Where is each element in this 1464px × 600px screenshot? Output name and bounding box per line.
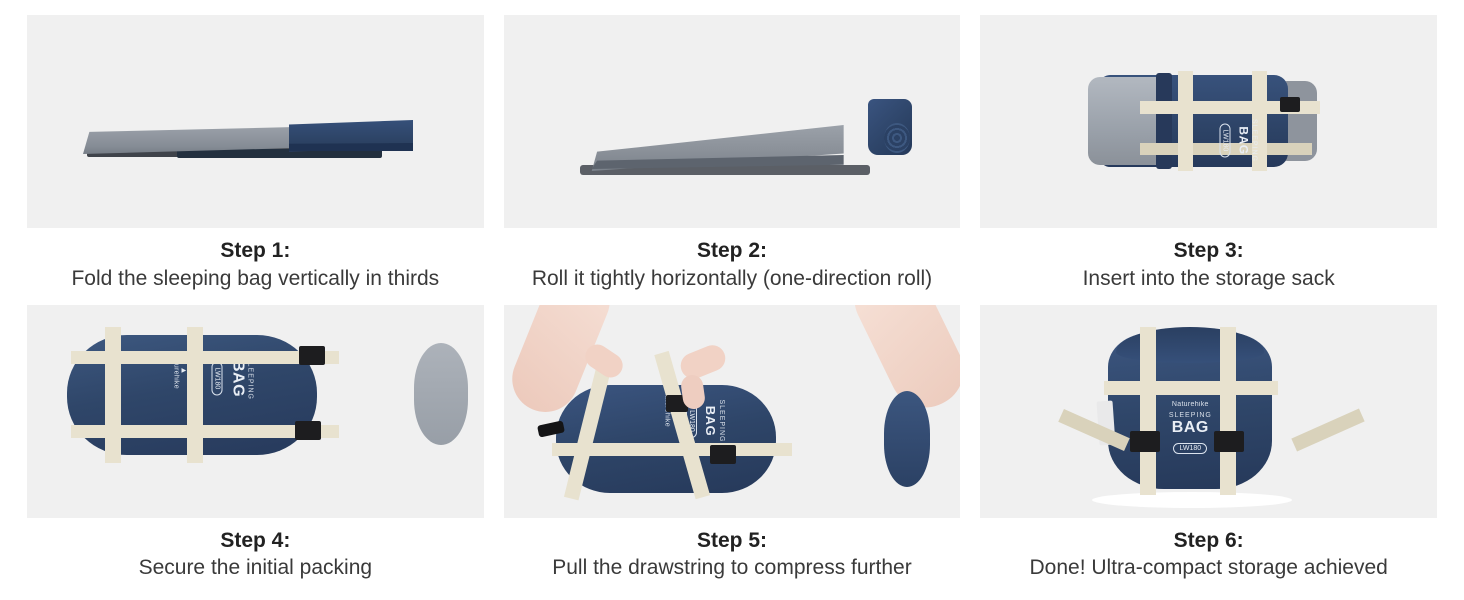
- brand-name-text: Naturehike: [173, 335, 180, 405]
- surface-highlight: [1092, 492, 1292, 508]
- label-model-badge: LW180: [1173, 443, 1207, 454]
- step-1-image: [27, 15, 484, 228]
- step-6-title: Step 6:: [980, 527, 1437, 555]
- label-bag-text: BAG: [1237, 113, 1251, 169]
- step-5-title: Step 5:: [504, 527, 961, 555]
- step-3-description: Insert into the storage sack: [980, 265, 1437, 292]
- step-card-2: Step 2: Roll it tightly horizontally (on…: [504, 15, 961, 303]
- step-card-1: Step 1: Fold the sleeping bag vertically…: [27, 15, 484, 303]
- strap-horizontal: [1104, 381, 1278, 395]
- strap-vertical-right: [187, 327, 203, 463]
- label-sleeping-text: SLEEPING: [1148, 412, 1232, 419]
- step-2-image: [504, 15, 961, 228]
- step-3-caption: Step 3: Insert into the storage sack: [980, 228, 1437, 292]
- step-1-title: Step 1:: [27, 237, 484, 265]
- strap-loose-end-right: [1291, 408, 1364, 451]
- step-4-title: Step 4:: [27, 527, 484, 555]
- step-card-6: Naturehike SLEEPING BAG LW180 Step 6: Do…: [980, 305, 1437, 593]
- sack-far-side: [884, 391, 930, 487]
- step-3-image: SLEEPING BAG LW180: [980, 15, 1437, 228]
- buckle-left: [1130, 431, 1160, 452]
- step-2-description: Roll it tightly horizontally (one-direct…: [504, 265, 961, 292]
- steps-grid: Step 1: Fold the sleeping bag vertically…: [0, 0, 1464, 600]
- sack-gray-end: [414, 343, 468, 445]
- product-label-step3: SLEEPING BAG LW180: [1216, 107, 1260, 157]
- buckle-bottom-right: [295, 421, 321, 440]
- mat-navy-edge: [289, 143, 413, 151]
- step-card-3: SLEEPING BAG LW180 Step 3: Insert into t…: [980, 15, 1437, 303]
- step-card-4: ▲ Naturehike SLEEPING BAG LW180: [27, 305, 484, 593]
- strap-buckle: [1280, 97, 1300, 112]
- step-1-caption: Step 1: Fold the sleeping bag vertically…: [27, 228, 484, 292]
- step-4-image: ▲ Naturehike SLEEPING BAG LW180: [27, 305, 484, 518]
- label-model-badge: LW180: [1220, 124, 1231, 158]
- right-hand-fingers: [676, 341, 728, 382]
- step-4-description: Secure the initial packing: [27, 554, 484, 581]
- buckle-top-right: [299, 346, 325, 365]
- step-5-description: Pull the drawstring to compress further: [504, 554, 961, 581]
- buckle-lower: [710, 445, 736, 464]
- step-1-description: Fold the sleeping bag vertically in thir…: [27, 265, 484, 292]
- step-6-caption: Step 6: Done! Ultra-compact storage achi…: [980, 518, 1437, 582]
- sack-cinched-top: [1116, 327, 1264, 363]
- step-3-title: Step 3:: [980, 237, 1437, 265]
- buckle-right: [1214, 431, 1244, 452]
- step-6-image: Naturehike SLEEPING BAG LW180: [980, 305, 1437, 518]
- brand-name-text: Naturehike: [1148, 401, 1232, 408]
- label-sleeping-text: SLEEPING: [1251, 113, 1258, 169]
- step-5-caption: Step 5: Pull the drawstring to compress …: [504, 518, 961, 582]
- strap-vertical-left: [105, 327, 121, 463]
- step-2-title: Step 2:: [504, 237, 961, 265]
- label-model-badge: LW180: [212, 361, 223, 395]
- step-card-5: Naturehike SLEEPING BAG LW180: [504, 305, 961, 593]
- step-2-caption: Step 2: Roll it tightly horizontally (on…: [504, 228, 961, 292]
- step-4-caption: Step 4: Secure the initial packing: [27, 518, 484, 582]
- step-5-image: Naturehike SLEEPING BAG LW180: [504, 305, 961, 518]
- step-6-description: Done! Ultra-compact storage achieved: [980, 554, 1437, 581]
- strap-vertical-left: [1178, 71, 1193, 171]
